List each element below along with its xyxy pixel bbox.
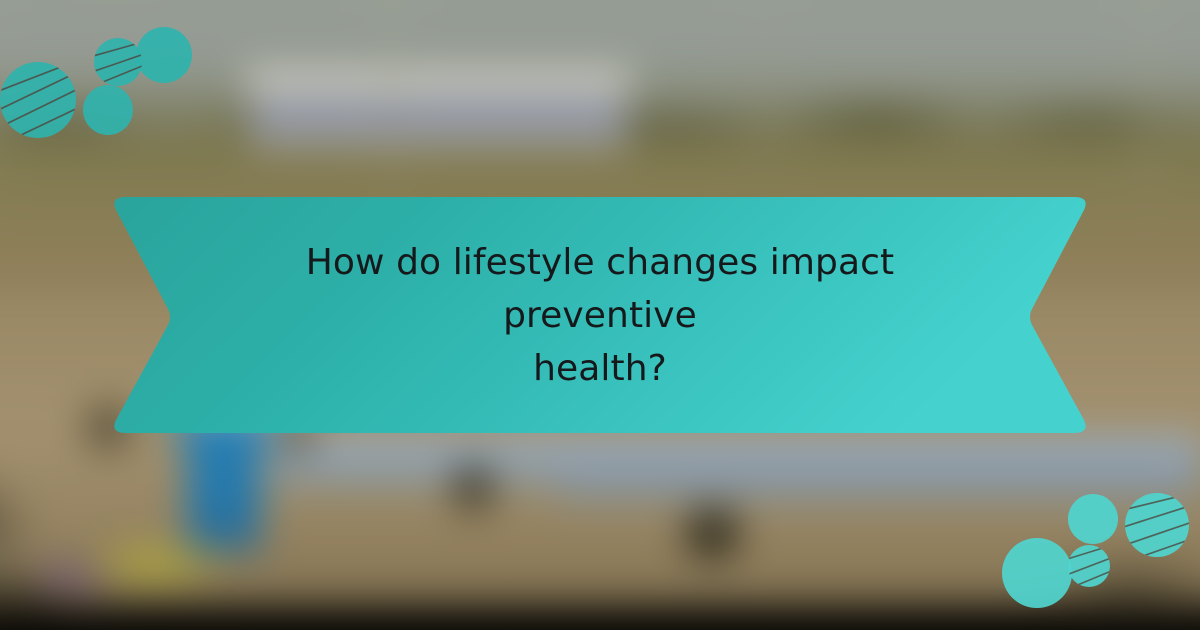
- striped-circle-icon: [0, 58, 86, 146]
- headline-line-1: How do lifestyle changes impact preventi…: [220, 236, 980, 342]
- decoration-cluster-top-left: [0, 0, 210, 150]
- striped-circle-icon: [1117, 491, 1200, 563]
- banner-text-block: How do lifestyle changes impact preventi…: [110, 197, 1090, 433]
- headline-line-2: health?: [533, 342, 667, 395]
- headline-banner: How do lifestyle changes impact preventi…: [110, 197, 1090, 433]
- plain-circle-icon: [1002, 538, 1072, 608]
- plain-circle-icon: [136, 27, 192, 83]
- share-card: How do lifestyle changes impact preventi…: [0, 0, 1200, 630]
- plain-circle-icon: [83, 85, 133, 135]
- plain-circle-icon: [1068, 494, 1118, 544]
- decoration-cluster-bottom-right: [995, 485, 1200, 630]
